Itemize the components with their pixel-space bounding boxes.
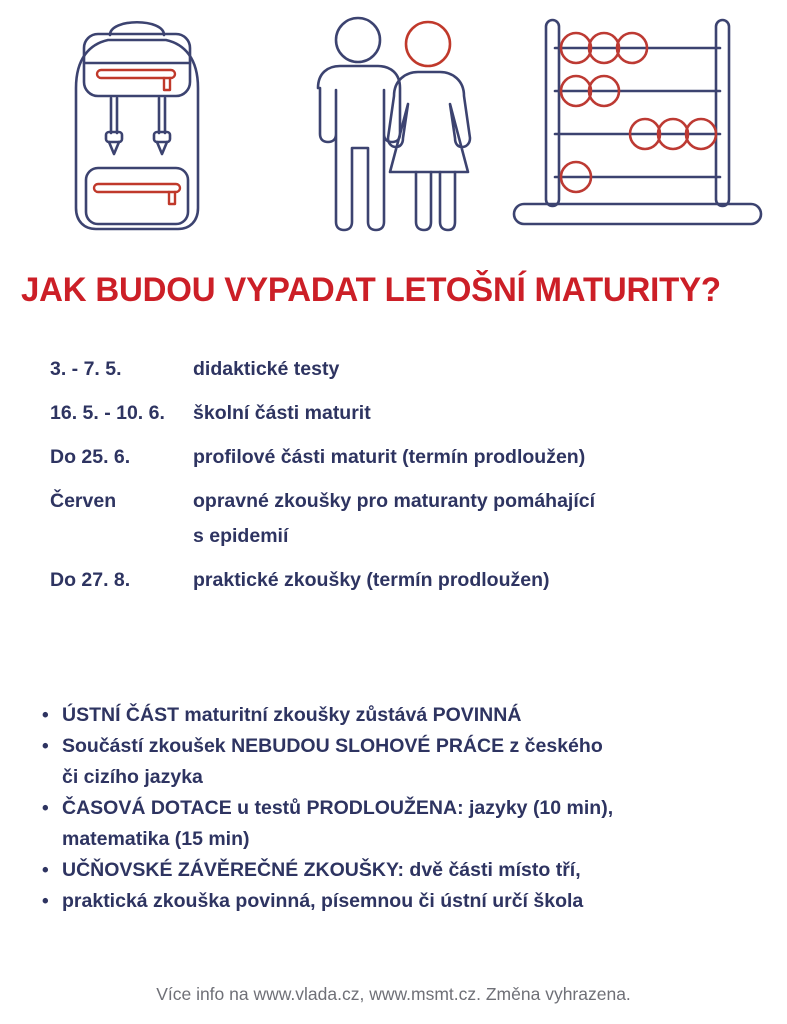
- list-item-continuation: matematika (15 min): [0, 824, 787, 855]
- list-item-continuation: či cizího jazyka: [0, 762, 787, 793]
- schedule-table: 3. - 7. 5. didaktické testy 16. 5. - 10.…: [0, 352, 787, 607]
- abacus-icon: [510, 8, 765, 241]
- schedule-date: Do 25. 6.: [0, 440, 193, 475]
- students-pair-icon: [300, 8, 490, 241]
- table-row: Do 25. 6. profilové části maturit (termí…: [0, 440, 787, 475]
- list-item: praktická zkouška povinná, písemnou či ú…: [0, 886, 787, 917]
- table-row: Červen opravné zkoušky pro maturanty pom…: [0, 484, 787, 554]
- icon-band: [0, 0, 787, 240]
- schedule-date: Do 27. 8.: [0, 563, 193, 598]
- schedule-description-continuation: s epidemií: [193, 519, 787, 554]
- table-row: Do 27. 8. praktické zkoušky (termín prod…: [0, 563, 787, 598]
- schedule-description-main: didaktické testy: [193, 358, 339, 380]
- backpack-icon: [38, 8, 238, 241]
- page-title: JAK BUDOU VYPADAT LETOŠNÍ MATURITY?: [21, 268, 749, 312]
- schedule-date: Červen: [0, 484, 193, 519]
- schedule-description-main: školní části maturit: [193, 402, 371, 424]
- schedule-date: 3. - 7. 5.: [0, 352, 193, 387]
- schedule-description: školní části maturit: [193, 396, 787, 431]
- list-item: ÚSTNÍ ČÁST maturitní zkoušky zůstává POV…: [0, 700, 787, 731]
- schedule-date: 16. 5. - 10. 6.: [0, 396, 193, 431]
- table-row: 16. 5. - 10. 6. školní části maturit: [0, 396, 787, 431]
- bullet-list: ÚSTNÍ ČÁST maturitní zkoušky zůstává POV…: [0, 700, 787, 917]
- list-item: ČASOVÁ DOTACE u testů PRODLOUŽENA: jazyk…: [0, 793, 787, 824]
- footer-note: Více info na www.vlada.cz, www.msmt.cz. …: [0, 982, 787, 1006]
- schedule-description: praktické zkoušky (termín prodloužen): [193, 563, 787, 598]
- schedule-description: profilové části maturit (termín prodlouž…: [193, 440, 787, 475]
- schedule-description-main: opravné zkoušky pro maturanty pomáhající: [193, 490, 595, 512]
- table-row: 3. - 7. 5. didaktické testy: [0, 352, 787, 387]
- schedule-description: didaktické testy: [193, 352, 787, 387]
- schedule-description-main: profilové části maturit (termín prodlouž…: [193, 446, 585, 468]
- schedule-description: opravné zkoušky pro maturanty pomáhající…: [193, 484, 787, 554]
- list-item: Součástí zkoušek NEBUDOU SLOHOVÉ PRÁCE z…: [0, 731, 787, 762]
- list-item: UČŇOVSKÉ ZÁVĚREČNÉ ZKOUŠKY: dvě části mí…: [0, 855, 787, 886]
- schedule-description-main: praktické zkoušky (termín prodloužen): [193, 569, 550, 591]
